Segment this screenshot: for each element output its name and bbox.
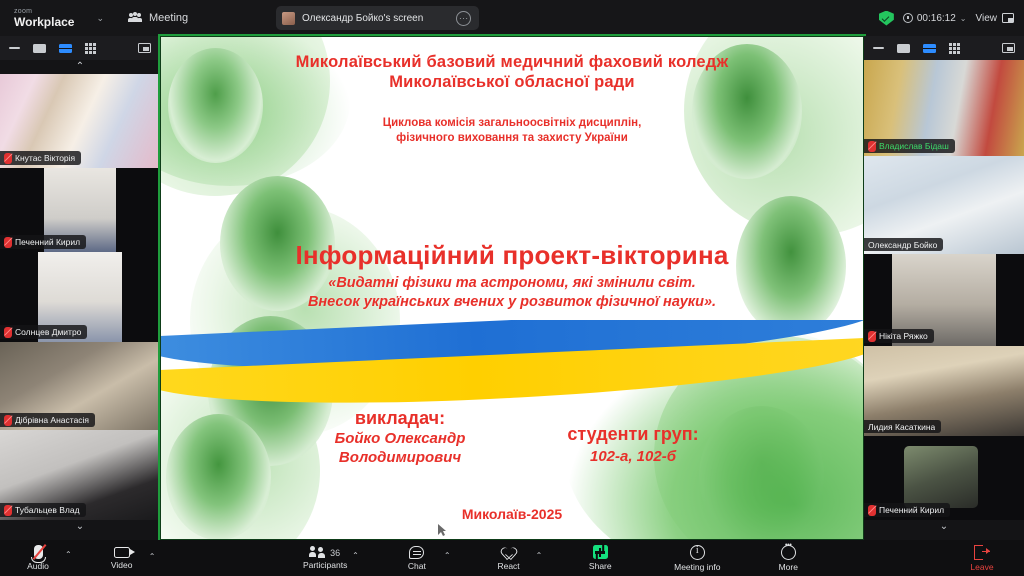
meeting-info-label: Meeting info xyxy=(674,562,720,572)
speaker-view-icon[interactable] xyxy=(897,44,910,53)
audio-button[interactable]: Audio xyxy=(14,545,62,571)
mic-muted-icon xyxy=(868,331,876,342)
participants-icon xyxy=(310,546,326,558)
participants-control-group[interactable]: 36 Participants ⌃ xyxy=(301,546,359,570)
participant-name-badge: Кнутас Вікторія xyxy=(0,151,81,165)
gallery-view-icon[interactable] xyxy=(949,43,960,54)
react-label: React xyxy=(497,561,519,571)
share-label: Share xyxy=(589,561,612,571)
slide-teacher-label: викладач: xyxy=(290,408,510,429)
quote-line-2: Внесок українських вчених у розвиток фіз… xyxy=(160,293,864,312)
left-strip-scroll-down[interactable]: ⌄ xyxy=(0,520,160,534)
more-icon xyxy=(781,545,796,560)
participant-name: Лидия Касаткина xyxy=(868,422,935,432)
mic-muted-icon xyxy=(4,237,12,248)
leave-label: Leave xyxy=(970,562,993,572)
gallery-view-icon[interactable] xyxy=(85,43,96,54)
participant-name: Кнутас Вікторія xyxy=(15,153,75,163)
strip-view-icon[interactable] xyxy=(923,44,936,53)
slide-commission: Циклова комісія загальноосвітніх дисципл… xyxy=(160,116,864,146)
slide-city-year: Миколаїв-2025 xyxy=(160,506,864,522)
picture-in-picture-icon[interactable] xyxy=(1002,43,1015,53)
commission-line-2: фізичного виховання та захисту України xyxy=(160,131,864,146)
mic-muted-icon xyxy=(868,141,876,152)
participant-name-badge: Нікіта Ряжко xyxy=(864,329,934,343)
teacher-name-line-2: Володимирович xyxy=(290,449,510,468)
react-button[interactable]: React xyxy=(485,546,533,571)
commission-line-1: Циклова комісія загальноосвітніх дисципл… xyxy=(160,116,864,131)
share-screen-button[interactable]: Share xyxy=(576,545,624,571)
react-control-group[interactable]: React ⌃ xyxy=(485,546,543,571)
participant-tile[interactable]: Кнутас Вікторія xyxy=(0,74,160,168)
participant-tile-active-speaker[interactable]: Олександр Бойко xyxy=(864,156,1024,254)
right-view-mode-toolbar xyxy=(864,36,1024,60)
right-strip-scroll-down[interactable]: ⌄ xyxy=(864,520,1024,534)
participant-name-badge: Лидия Касаткина xyxy=(864,420,941,433)
participant-name: Владислав Бідаш xyxy=(879,141,949,151)
mic-muted-icon xyxy=(4,505,12,516)
participant-name-badge: Печенний Кирил xyxy=(864,503,950,517)
participant-name-badge: Дібрівна Анастасія xyxy=(0,413,95,427)
meeting-info-button[interactable]: Meeting info xyxy=(664,545,730,572)
participant-name: Печенний Кирил xyxy=(879,505,944,515)
screen-share-label: Олександр Бойко's screen xyxy=(302,13,423,24)
chevron-down-icon: ⌄ xyxy=(76,522,84,532)
presentation-slide: Миколаївський базовий медичний фаховий к… xyxy=(160,36,864,540)
video-options-chevron-up-icon[interactable]: ⌃ xyxy=(149,552,156,561)
share-screen-icon xyxy=(593,545,608,559)
heart-icon xyxy=(502,546,516,559)
slide-project-title: Інформаційний проект-вікторина xyxy=(160,240,864,271)
participant-tile[interactable]: Владислав Бідаш xyxy=(864,60,1024,156)
zoom-workplace-logo: zoom Workplace xyxy=(14,8,74,28)
sharer-avatar xyxy=(282,12,295,25)
minimize-view-icon[interactable] xyxy=(9,47,20,49)
zoom-meeting-window: zoom Workplace ⌄ Meeting Олександр Бойко… xyxy=(0,0,1024,576)
mic-muted-icon xyxy=(4,327,12,338)
encryption-shield-icon[interactable] xyxy=(879,11,894,26)
share-more-icon[interactable]: ··· xyxy=(456,11,471,26)
participant-name: Дібрівна Анастасія xyxy=(15,415,89,425)
top-bar-right-controls: 00:16:12 ⌄ View xyxy=(879,0,1014,36)
minimize-view-icon[interactable] xyxy=(873,47,884,49)
bottom-toolbar: Audio ⌃ Video ⌃ 36 Participants ⌃ xyxy=(0,540,1024,576)
mic-muted-icon xyxy=(4,415,12,426)
audio-control-group[interactable]: Audio ⌃ xyxy=(14,545,72,571)
participant-name: Нікіта Ряжко xyxy=(879,331,928,341)
view-button-label: View xyxy=(976,13,998,24)
quote-line-1: «Видатні фізики та астрономи, які змінил… xyxy=(160,274,864,293)
video-label: Video xyxy=(111,560,133,570)
participant-name-badge: Тубальцев Влад xyxy=(0,503,86,517)
camera-icon xyxy=(114,547,130,558)
participants-count: 36 xyxy=(330,548,340,558)
timer-chevron-down-icon[interactable]: ⌄ xyxy=(960,14,967,23)
slide-quote: «Видатні фізики та астрономи, які змінил… xyxy=(160,274,864,311)
participants-button[interactable]: 36 Participants xyxy=(301,546,349,570)
participant-name-badge: Солнцев Дмитро xyxy=(0,325,87,339)
participant-tile[interactable]: Печенний Кирил xyxy=(0,168,160,252)
slide-students-groups: 102-а, 102-б xyxy=(508,448,758,465)
college-line-1: Миколаївський базовий медичний фаховий к… xyxy=(160,52,864,72)
participant-name-badge: Владислав Бідаш xyxy=(864,139,955,153)
speaker-view-icon[interactable] xyxy=(33,44,46,53)
people-icon xyxy=(128,12,142,24)
participants-label: Participants xyxy=(303,560,347,570)
chat-control-group[interactable]: Chat ⌃ xyxy=(393,546,451,571)
more-button[interactable]: More xyxy=(764,545,812,572)
left-view-mode-toolbar xyxy=(0,36,160,60)
screen-share-indicator[interactable]: Олександр Бойко's screen ··· xyxy=(276,6,479,30)
chevron-down-icon: ⌄ xyxy=(940,522,948,532)
participant-name-badge: Печенний Кирил xyxy=(0,235,86,249)
chevron-up-icon: ⌃ xyxy=(76,62,84,72)
participant-name: Печенний Кирил xyxy=(15,237,80,247)
leave-icon xyxy=(974,545,990,560)
chat-label: Chat xyxy=(408,561,426,571)
right-participant-strip: Владислав Бідаш Олександр Бойко Нікіта Р… xyxy=(864,36,1024,540)
participant-tile[interactable]: Солнцев Дмитро xyxy=(0,252,160,342)
picture-in-picture-icon[interactable] xyxy=(138,43,151,53)
react-options-chevron-up-icon[interactable]: ⌃ xyxy=(536,551,543,560)
brand-chevron-down-icon[interactable]: ⌄ xyxy=(96,13,104,24)
video-button[interactable]: Video xyxy=(98,547,146,570)
left-strip-scroll-up[interactable]: ⌃ xyxy=(0,60,160,74)
microphone-muted-icon xyxy=(34,545,43,559)
participants-options-chevron-up-icon[interactable]: ⌃ xyxy=(352,551,359,560)
participant-tile[interactable]: Печенний Кирил xyxy=(864,436,1024,520)
brand-workplace-text: Workplace xyxy=(14,16,74,28)
slide-students-label: студенти груп: xyxy=(508,424,758,445)
participant-tile[interactable]: Лидия Касаткина xyxy=(864,346,1024,436)
teacher-name-line-1: Бойко Олександр xyxy=(290,430,510,449)
mic-muted-icon xyxy=(868,505,876,516)
meeting-timer-value: 00:16:12 xyxy=(917,13,956,24)
participant-tile[interactable]: Нікіта Ряжко xyxy=(864,254,1024,346)
meeting-timer[interactable]: 00:16:12 ⌄ xyxy=(903,13,967,24)
participant-name-badge: Олександр Бойко xyxy=(864,238,943,251)
participant-tile[interactable]: Тубальцев Влад xyxy=(0,430,160,520)
strip-view-icon[interactable] xyxy=(59,44,72,53)
video-control-group[interactable]: Video ⌃ xyxy=(98,547,156,570)
participant-name: Олександр Бойко xyxy=(868,240,937,250)
slide-college-name: Миколаївський базовий медичний фаховий к… xyxy=(160,52,864,92)
tab-meeting-label: Meeting xyxy=(149,12,188,24)
participant-tile[interactable]: Дібрівна Анастасія xyxy=(0,342,160,430)
top-bar: zoom Workplace ⌄ Meeting Олександр Бойко… xyxy=(0,0,1024,36)
clock-icon xyxy=(903,13,913,23)
audio-options-chevron-up-icon[interactable]: ⌃ xyxy=(65,550,72,559)
mic-muted-icon xyxy=(4,153,12,164)
chat-icon xyxy=(409,546,424,559)
brand-zoom-text: zoom xyxy=(14,8,74,15)
college-line-2: Миколаївської обласної ради xyxy=(160,72,864,92)
leave-meeting-button[interactable]: Leave xyxy=(958,545,1006,572)
layout-icon xyxy=(1002,13,1014,23)
chat-button[interactable]: Chat xyxy=(393,546,441,571)
tab-meeting[interactable]: Meeting xyxy=(128,12,188,24)
view-button[interactable]: View xyxy=(976,13,1015,24)
chat-options-chevron-up-icon[interactable]: ⌃ xyxy=(444,551,451,560)
shared-screen-stage[interactable]: Миколаївський базовий медичний фаховий к… xyxy=(160,36,864,540)
participant-name: Солнцев Дмитро xyxy=(15,327,81,337)
info-icon xyxy=(690,545,705,560)
slide-teacher-name: Бойко Олександр Володимирович xyxy=(290,430,510,468)
mouse-cursor xyxy=(438,524,446,536)
more-label: More xyxy=(779,562,798,572)
participant-name: Тубальцев Влад xyxy=(15,505,80,515)
left-participant-strip: ⌃ Кнутас Вікторія Печенний Кирил xyxy=(0,36,160,540)
